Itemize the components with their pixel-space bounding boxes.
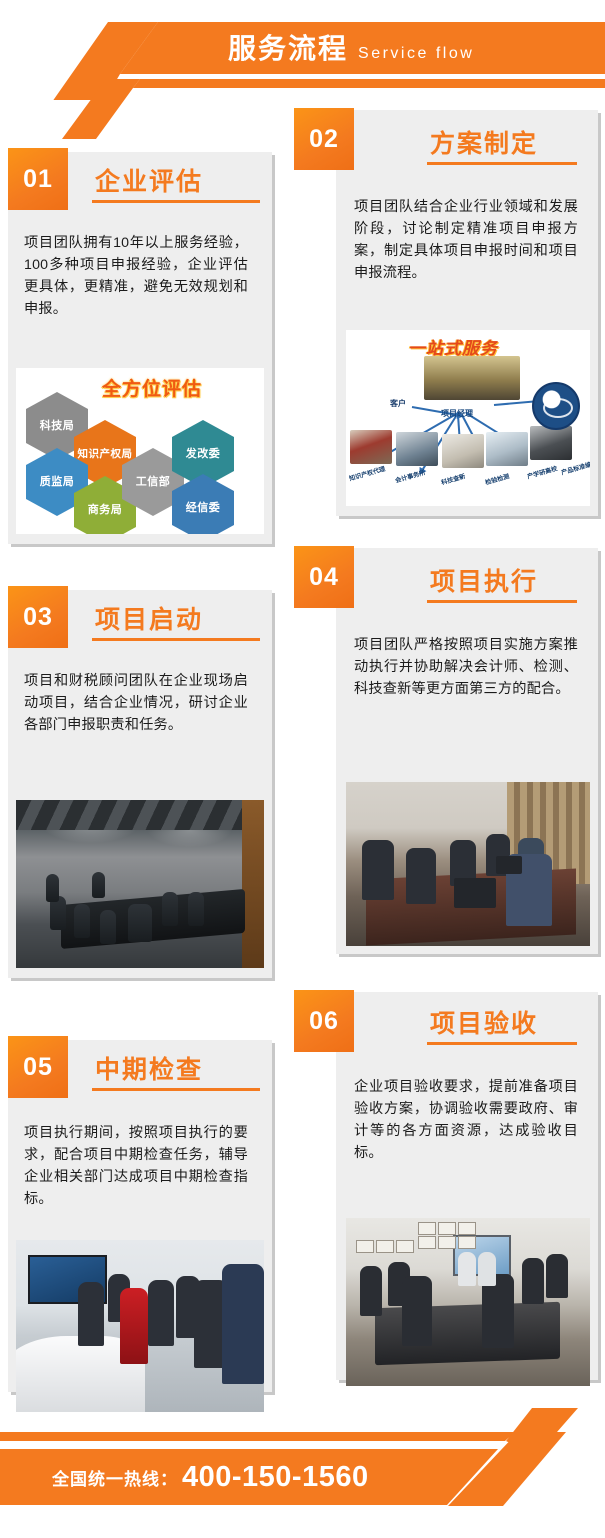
step-body-03: 项目和财税顾问团队在企业现场启动项目，结合企业情况，研讨企业各部门申报职责和任务… [24, 670, 248, 736]
step-body-01: 项目团队拥有10年以上服务经验，100多种项目申报经验，企业评估更具体，更精准，… [24, 232, 248, 320]
step-title-04: 项目执行 [430, 562, 538, 598]
step-title-03: 项目启动 [95, 600, 203, 636]
one-stop-team-photo [424, 356, 520, 400]
one-stop-label-ip: 知识产权代理 [348, 464, 386, 483]
hotline-number[interactable]: 400-150-1560 [182, 1461, 369, 1494]
step-title-underline-02 [427, 162, 577, 165]
one-stop-certification-seal [532, 382, 580, 430]
one-stop-node-ip [350, 430, 392, 464]
step-body-06: 企业项目验收要求，提前准备项目验收方案，协调验收需要政府、审计等的各方面资源，达… [354, 1076, 578, 1164]
photo-team-working-session [346, 782, 590, 946]
step-number-badge-02: 02 [294, 108, 354, 170]
step-body-04: 项目团队严格按照项目实施方案推动执行并协助解决会计师、检测、科技查新等更方面第三… [354, 634, 578, 700]
step-title-02: 方案制定 [430, 124, 538, 160]
one-stop-label-testing: 检验检测 [484, 471, 510, 486]
hex-node-zhishi-label: 知识产权局 [78, 448, 133, 461]
service-flow-infographic: 服务流程 Service flow 01 企业评估 项目团队拥有10年以上服务经… [0, 0, 605, 1538]
step-title-06: 项目验收 [430, 1004, 538, 1040]
hotline-label: 全国统一热线： [52, 1465, 178, 1490]
step-number-badge-03: 03 [8, 586, 68, 648]
step-number-badge-01: 01 [8, 148, 68, 210]
photo-meeting-room-kickoff [16, 800, 264, 968]
step-number-badge-05: 05 [8, 1036, 68, 1098]
step-title-05: 中期检查 [95, 1050, 203, 1086]
one-stop-client-label: 客户 [390, 398, 406, 409]
one-stop-center-label: 项目经理 [441, 408, 473, 419]
page-footer: 全国统一热线： 400-150-1560 [0, 1432, 605, 1538]
step-title-underline-03 [92, 638, 260, 641]
page-header: 服务流程 Service flow [0, 0, 605, 100]
step-title-underline-01 [92, 200, 260, 203]
one-stop-node-university [530, 426, 572, 460]
page-title: 服务流程 [228, 27, 348, 71]
step-title-underline-04 [427, 600, 577, 603]
step-body-05: 项目执行期间，按照项目执行的要求，配合项目中期检查任务，辅导企业相关部门达成项目… [24, 1122, 248, 1210]
step-title-underline-06 [427, 1042, 577, 1045]
one-stop-node-accounting [396, 432, 438, 466]
one-stop-service-diagram: 一站式服务 客户 项目经理 知识产权代理 会计事务所 科技查新 检验检测 产学研… [346, 330, 590, 506]
step-number-badge-04: 04 [294, 546, 354, 608]
one-stop-label-standard: 产品标准编制 [560, 458, 590, 477]
page-subtitle: Service flow [358, 32, 474, 76]
one-stop-label-accounting: 会计事务所 [394, 467, 426, 484]
step-number-badge-06: 06 [294, 990, 354, 1052]
one-stop-node-testing [486, 432, 528, 466]
header-title-group: 服务流程 Service flow [228, 27, 474, 73]
one-stop-label-university: 产学研高校 [526, 463, 558, 480]
photo-showroom-visit [16, 1240, 264, 1412]
footer-hotline-group: 全国统一热线： 400-150-1560 [52, 1449, 369, 1505]
hex-diagram-title: 全方位评估 [102, 374, 202, 401]
step-title-01: 企业评估 [95, 162, 203, 198]
photo-conference-acceptance [346, 1218, 590, 1386]
step-title-underline-05 [92, 1088, 260, 1091]
one-stop-node-research [442, 434, 484, 468]
hexagon-assessment-diagram: 全方位评估 科技局 知识产权局 质监局 商务局 工信部 发改委 经信委 [16, 368, 264, 534]
step-body-02: 项目团队结合企业行业领域和发展阶段，讨论制定精准项目申报方案，制定具体项目申报时… [354, 196, 578, 284]
one-stop-label-research: 科技查新 [440, 471, 466, 486]
